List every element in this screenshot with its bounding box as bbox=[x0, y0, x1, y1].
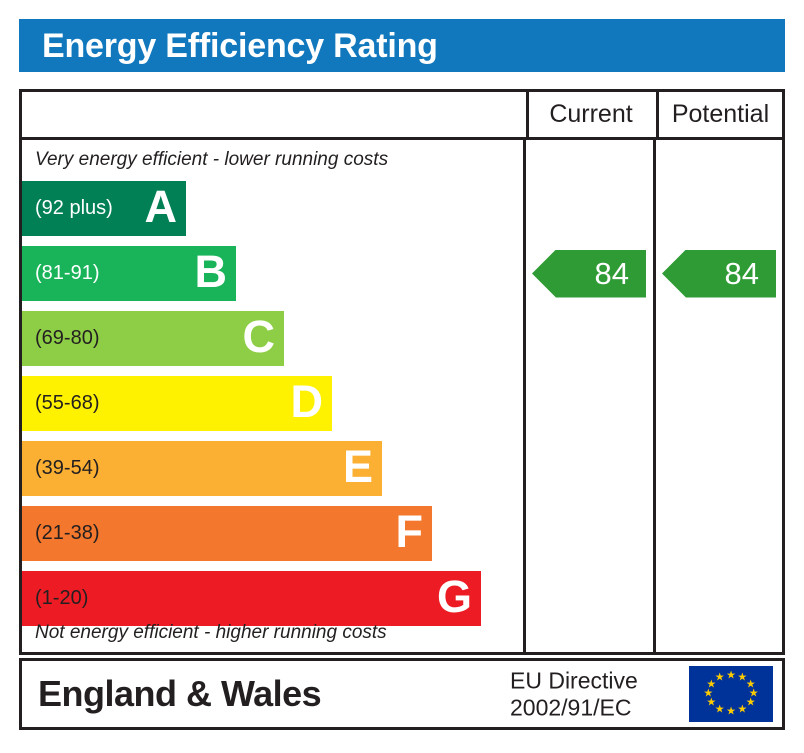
eu-directive-label: EU Directive 2002/91/EC bbox=[510, 667, 638, 720]
band-g: (1-20)G bbox=[22, 571, 481, 626]
column-header-current: Current bbox=[526, 92, 653, 137]
column-header-potential: Potential bbox=[656, 92, 782, 137]
band-letter: G bbox=[437, 574, 481, 624]
band-c: (69-80)C bbox=[22, 311, 284, 366]
band-letter: C bbox=[243, 314, 285, 364]
band-e: (39-54)E bbox=[22, 441, 382, 496]
band-d: (55-68)D bbox=[22, 376, 332, 431]
footer-bar: England & Wales EU Directive 2002/91/EC … bbox=[19, 658, 785, 730]
band-letter: F bbox=[396, 509, 433, 559]
band-range-label: (92 plus) bbox=[22, 197, 113, 220]
eu-flag-star-icon: ★ bbox=[726, 707, 736, 718]
current-rating-value: 84 bbox=[595, 256, 629, 292]
eu-flag-star-icon: ★ bbox=[726, 670, 736, 681]
band-range-label: (1-20) bbox=[22, 587, 88, 610]
eu-flag-star-icon: ★ bbox=[715, 672, 725, 683]
potential-rating-arrow: 84 bbox=[662, 250, 776, 298]
column-divider-current bbox=[523, 140, 526, 652]
band-f: (21-38)F bbox=[22, 506, 432, 561]
column-divider-potential bbox=[653, 140, 656, 652]
band-range-label: (21-38) bbox=[22, 522, 99, 545]
band-letter: A bbox=[145, 184, 187, 234]
table-header-row: Current Potential bbox=[22, 92, 782, 140]
band-range-label: (39-54) bbox=[22, 457, 99, 480]
eu-directive-line2: 2002/91/EC bbox=[510, 694, 638, 721]
eu-directive-line1: EU Directive bbox=[510, 667, 638, 694]
eu-flag-icon: ★★★★★★★★★★★★ bbox=[689, 666, 773, 722]
band-range-label: (55-68) bbox=[22, 392, 99, 415]
band-range-label: (81-91) bbox=[22, 262, 99, 285]
caption-not-efficient: Not energy efficient - higher running co… bbox=[35, 622, 387, 644]
rating-table: Current Potential Very energy efficient … bbox=[19, 89, 785, 655]
band-letter: D bbox=[291, 379, 333, 429]
page-title: Energy Efficiency Rating bbox=[19, 29, 438, 63]
potential-rating-value: 84 bbox=[725, 256, 759, 292]
eu-flag-star-icon: ★ bbox=[737, 705, 747, 716]
current-rating-arrow: 84 bbox=[532, 250, 646, 298]
band-a: (92 plus)A bbox=[22, 181, 186, 236]
band-letter: E bbox=[343, 444, 382, 494]
region-label: England & Wales bbox=[38, 673, 321, 715]
caption-very-efficient: Very energy efficient - lower running co… bbox=[35, 149, 388, 171]
band-chart-area: Very energy efficient - lower running co… bbox=[22, 140, 523, 652]
column-header-blank bbox=[22, 92, 523, 137]
chart-title-bar: Energy Efficiency Rating bbox=[19, 19, 785, 72]
band-letter: B bbox=[195, 249, 237, 299]
band-range-label: (69-80) bbox=[22, 327, 99, 350]
band-b: (81-91)B bbox=[22, 246, 236, 301]
energy-efficiency-rating-chart: Energy Efficiency Rating Current Potenti… bbox=[0, 0, 804, 753]
